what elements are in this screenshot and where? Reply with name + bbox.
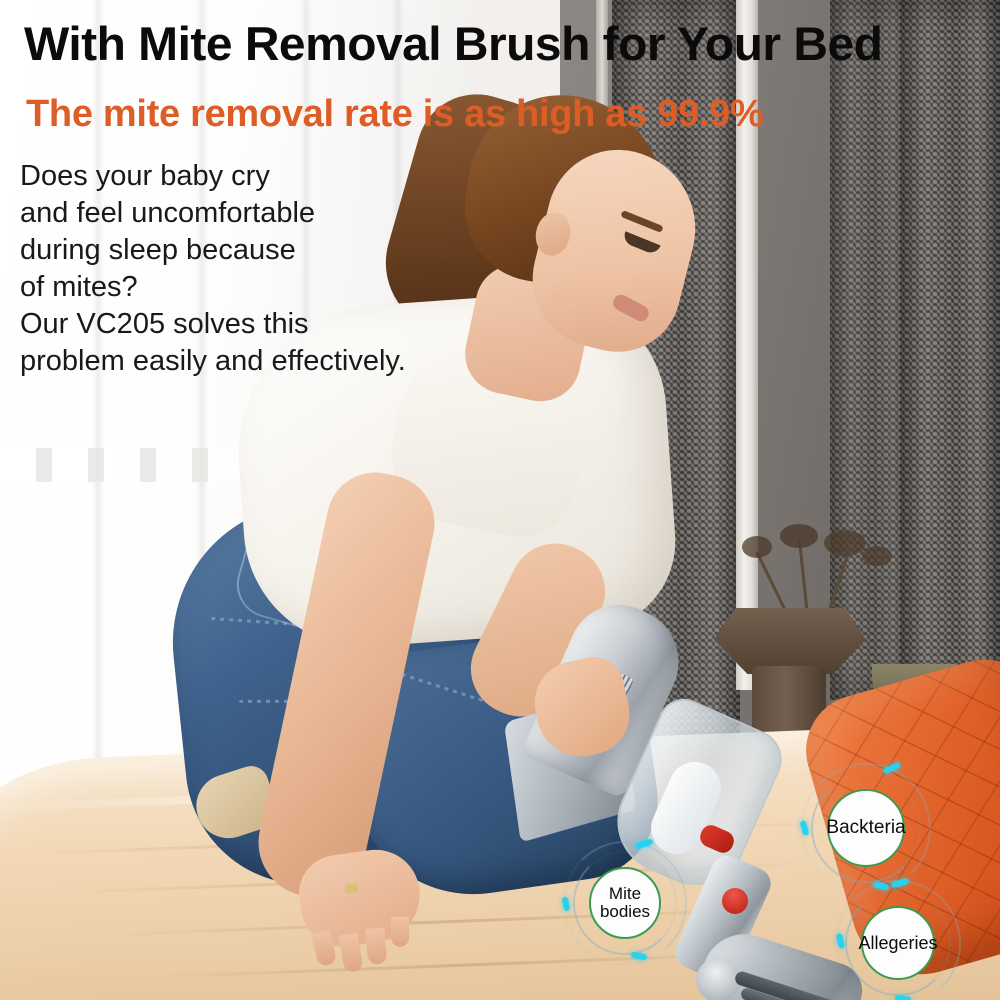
badge-disc: Mite bodies <box>589 867 661 939</box>
finger-4 <box>391 917 409 947</box>
branch-berries-2 <box>780 524 818 548</box>
feature-badge-backteria: Backteria <box>827 789 905 867</box>
badge-label-line2: bodies <box>600 903 650 921</box>
body-line: Does your baby cry <box>20 158 440 195</box>
branch-berries-1 <box>742 536 772 558</box>
body-line: during sleep because <box>20 232 440 269</box>
finger-3 <box>365 927 387 965</box>
product-poster: With Mite Removal Brush for Your Bed The… <box>0 0 1000 1000</box>
badge-label-line1: Allegeries <box>858 934 937 953</box>
body-line: Our VC205 solves this <box>20 306 440 343</box>
feature-badge-allegeries: Allegeries <box>861 906 935 980</box>
branch-berries-3 <box>824 530 866 556</box>
body-line: problem easily and effectively. <box>20 343 440 380</box>
branch-berries-4 <box>862 546 892 566</box>
body-copy: Does your baby cry and feel uncomfortabl… <box>20 158 440 380</box>
badge-label-line1: Backteria <box>826 818 905 838</box>
badge-disc: Allegeries <box>861 906 935 980</box>
body-line: and feel uncomfortable <box>20 195 440 232</box>
page-title: With Mite Removal Brush for Your Bed <box>24 18 1000 70</box>
subtitle: The mite removal rate is as high as 99.9… <box>26 92 986 136</box>
body-line: of mites? <box>20 269 440 306</box>
badge-label-line1: Mite <box>600 885 650 903</box>
feature-badge-mite-bodies: Mite bodies <box>589 867 661 939</box>
badge-disc: Backteria <box>827 789 905 867</box>
